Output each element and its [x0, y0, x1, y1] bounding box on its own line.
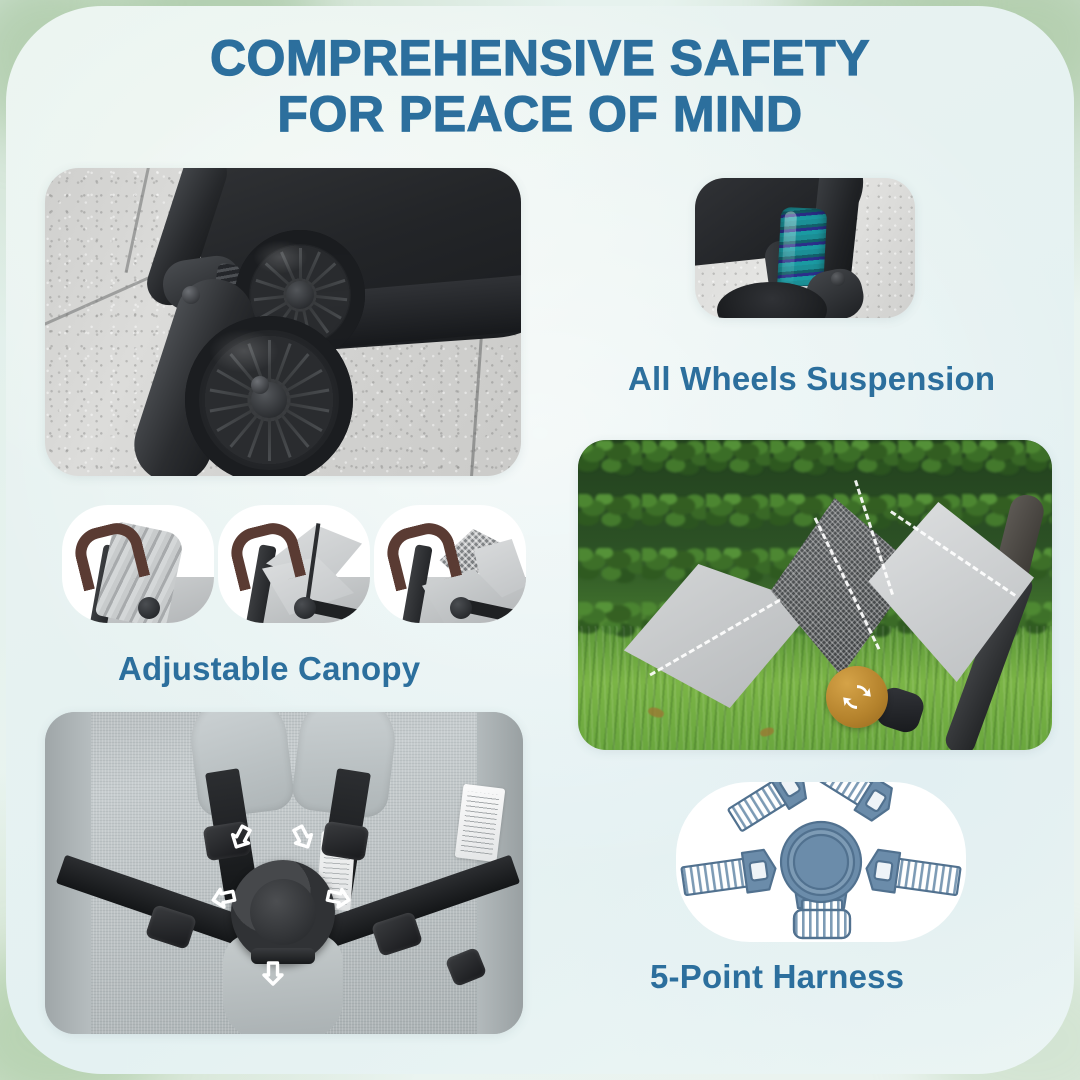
title-line-1: COMPREHENSIVE SAFETY	[0, 30, 1080, 86]
strap-adjuster	[321, 821, 370, 861]
caption-adjustable-canopy: Adjustable Canopy	[118, 650, 420, 688]
caption-all-wheels-suspension: All Wheels Suspension	[628, 360, 995, 398]
five-point-harness-diagram	[676, 782, 966, 942]
page-title: COMPREHENSIVE SAFETY FOR PEACE OF MIND	[0, 30, 1080, 142]
suspension-bolt	[831, 272, 845, 286]
swing-arm-bolt	[251, 376, 269, 394]
swing-arm-bolt	[182, 286, 200, 304]
canopy-pivot	[450, 597, 472, 619]
canopy-pivot	[138, 597, 160, 619]
refresh-icon	[838, 678, 876, 716]
canopy-outdoor-photo	[578, 440, 1052, 750]
wheel-photo	[45, 168, 521, 476]
canopy-thumbnail-extended-mesh	[374, 505, 526, 623]
care-label-tag	[455, 784, 506, 863]
infographic-canvas: COMPREHENSIVE SAFETY FOR PEACE OF MIND	[0, 0, 1080, 1080]
title-line-2: FOR PEACE OF MIND	[0, 86, 1080, 142]
buckle-release-tab	[251, 948, 315, 964]
strap-adjuster	[203, 821, 252, 861]
wheel-highlight	[209, 329, 280, 373]
rotate-badge	[826, 666, 888, 728]
suspension-photo	[695, 178, 915, 318]
canopy-thumbnail-extended	[218, 505, 370, 623]
canopy-thumbnail-folded	[62, 505, 214, 623]
stroller-wheel	[185, 316, 353, 476]
wheel-highlight	[253, 240, 308, 274]
caption-five-point-harness: 5-Point Harness	[650, 958, 904, 996]
harness-photo	[45, 712, 523, 1034]
canopy-pivot	[294, 597, 316, 619]
five-point-harness-icon-card	[676, 782, 966, 942]
